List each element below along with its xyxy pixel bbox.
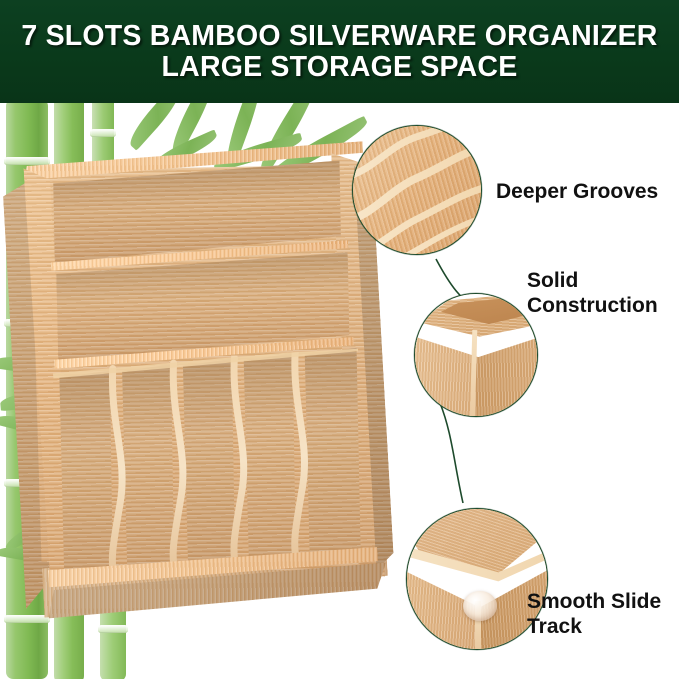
header-title-line-2: LARGE STORAGE SPACE: [10, 52, 670, 83]
callout-label-deeper-grooves: Deeper Grooves: [496, 179, 676, 204]
callout-label-smooth-slide-track: Smooth Slide Track: [527, 589, 679, 639]
product-scene: Deeper Grooves Solid Construction: [0, 103, 679, 679]
callout-label-line: Solid: [527, 268, 679, 293]
header-title-line-1: 7 SLOTS BAMBOO SILVERWARE ORGANIZER: [10, 21, 670, 52]
tray-slot-group: [53, 349, 371, 586]
callout-label-line: Smooth Slide: [527, 589, 679, 614]
callout-image-deeper-grooves: [352, 125, 482, 255]
callout-label-solid-construction: Solid Construction: [527, 268, 679, 318]
callout-image-solid-construction: [414, 293, 538, 417]
tray-wavy-dividers: [53, 349, 371, 586]
product-infographic: 7 SLOTS BAMBOO SILVERWARE ORGANIZER LARG…: [0, 0, 679, 679]
header-banner: 7 SLOTS BAMBOO SILVERWARE ORGANIZER LARG…: [0, 0, 679, 103]
rubber-bumper-foot: [463, 591, 497, 621]
silverware-organizer-tray: [1, 143, 387, 632]
callout-label-line: Construction: [527, 293, 679, 318]
callout-label-line: Track: [527, 614, 679, 639]
callout-label-line: Deeper Grooves: [496, 179, 676, 204]
header-text-block: 7 SLOTS BAMBOO SILVERWARE ORGANIZER LARG…: [10, 21, 670, 83]
